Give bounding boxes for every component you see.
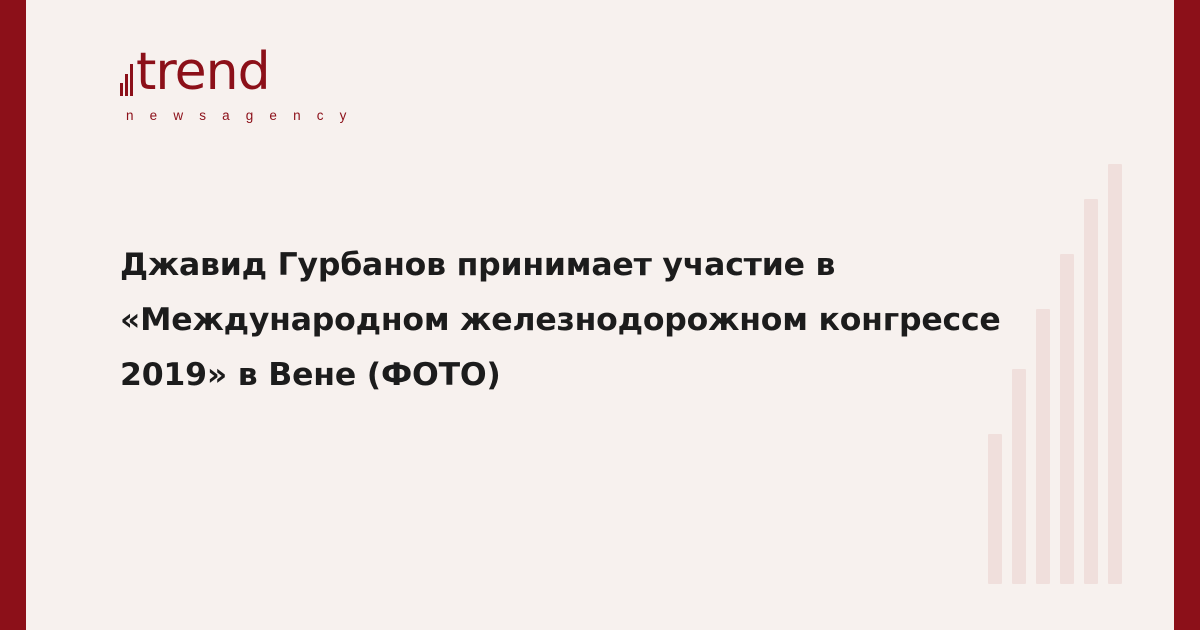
trend-logo[interactable]: trend n e w s a g e n c y: [120, 44, 420, 123]
logo-wordmark: trend: [120, 44, 420, 98]
logo-name: trend: [136, 46, 270, 98]
decorative-bar: [988, 434, 1002, 584]
page-title: Джавид Гурбанов принимает участие в «Меж…: [120, 238, 1080, 403]
decorative-bar: [1108, 164, 1122, 584]
share-card: trend n e w s a g e n c y Джавид Гурбано…: [0, 0, 1200, 630]
decorative-bar: [1084, 199, 1098, 584]
card-background: trend n e w s a g e n c y Джавид Гурбано…: [26, 0, 1174, 630]
logo-tagline: n e w s a g e n c y: [126, 108, 420, 123]
bars-icon: [120, 52, 133, 98]
